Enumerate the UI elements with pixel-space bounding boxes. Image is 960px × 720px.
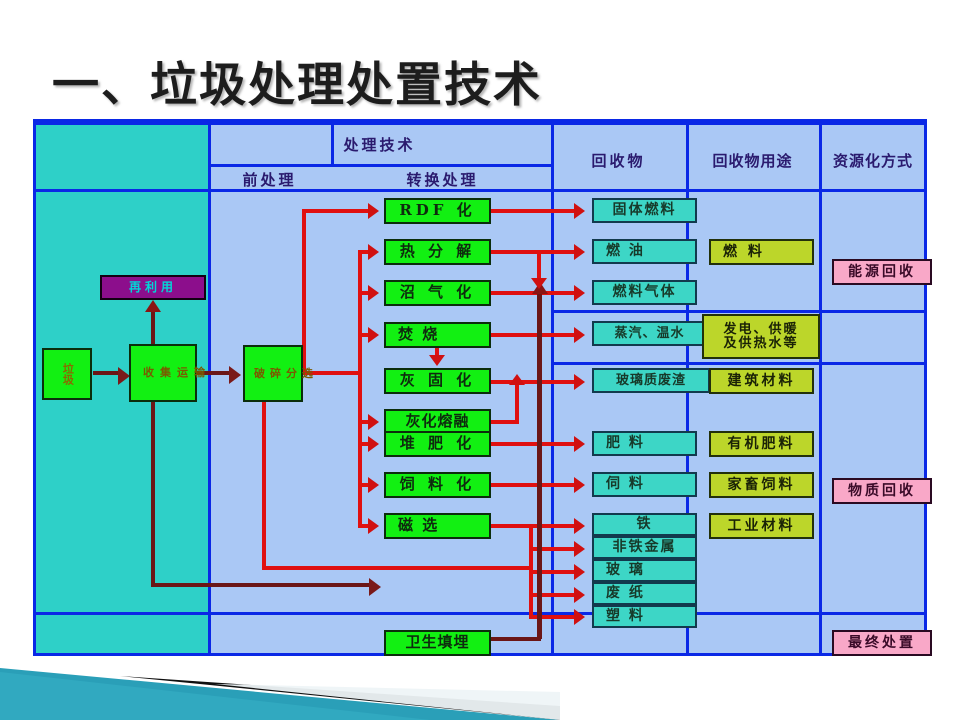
out-rdf — [491, 209, 579, 213]
arrow-ash-solidify-out — [574, 374, 585, 390]
arrow-collect-to-landfill — [369, 578, 381, 596]
node-recovered-iron[interactable]: 铁 — [592, 513, 697, 536]
node-collect-transport[interactable]: 收集运输 — [129, 344, 197, 402]
node-conversion-magnetic[interactable]: 磁 选 — [384, 513, 491, 539]
node-conversion-feed[interactable]: 饲 料 化 — [384, 472, 491, 498]
node-mode-material-recovery[interactable]: 物质回收 — [832, 478, 932, 504]
node-recovered-solid-fuel[interactable]: 固体燃料 — [592, 198, 697, 223]
process-flow-diagram: 处理技术 前处理 转换处理 回收物 回收物用途 资源化方式 再利用 垃圾 收集运… — [33, 119, 927, 656]
riser-ashmelt-vertical — [515, 384, 519, 424]
gas-riser-vertical — [537, 294, 542, 639]
node-crush-sort-label: 破碎分选 — [254, 367, 292, 381]
node-recovered-plastic[interactable]: 塑 料 — [592, 605, 697, 628]
header-treatment-tech: 处理技术 — [208, 134, 551, 155]
node-recovered-fuel-oil[interactable]: 燃 油 — [592, 239, 697, 264]
arrow-to-biogas — [368, 285, 379, 301]
node-conversion-biogas[interactable]: 沼 气 化 — [384, 280, 491, 306]
node-recovered-waste-paper[interactable]: 废 纸 — [592, 582, 697, 605]
arrow-to-rdf — [368, 203, 379, 219]
node-recovered-nonferrous[interactable]: 非铁金属 — [592, 536, 697, 559]
out-ash-solidify — [491, 380, 579, 384]
bus-crush-bottom-to-glass — [262, 566, 532, 570]
arrow-incineration-to-ash — [429, 355, 445, 366]
node-recovered-fuel-gas[interactable]: 燃料气体 — [592, 280, 697, 305]
arrow-pyrolysis-out — [574, 244, 585, 260]
connector-collect-to-landfill-h — [151, 583, 373, 587]
arrow-paper-out — [574, 587, 585, 603]
arrow-gas-downfeed — [531, 278, 547, 289]
divider-intake — [208, 122, 211, 653]
final-disposal-rule — [36, 612, 924, 615]
arrow-plastic-out — [574, 609, 585, 625]
node-conversion-pyrolysis[interactable]: 热 分 解 — [384, 239, 491, 265]
arrow-compost-out — [574, 436, 585, 452]
node-conversion-rdf[interactable]: RDF 化 — [384, 198, 491, 224]
arrow-biogas-out — [574, 285, 585, 301]
arrow-feed-out — [574, 477, 585, 493]
connector-collect-up-to-reuse — [151, 312, 155, 346]
bus-crush-bottom-vertical — [262, 402, 266, 570]
node-use-fuel[interactable]: 燃 料 — [709, 239, 814, 265]
band-rule-energy-steam — [551, 310, 927, 313]
node-use-building-material[interactable]: 建筑材料 — [709, 368, 814, 394]
page-title: 一、垃圾处理处置技术 — [52, 46, 542, 115]
bus-crush-to-rdf — [302, 209, 372, 213]
out-feed — [491, 483, 579, 487]
arrow-to-pyrolysis — [368, 244, 379, 260]
node-recovered-glass-slag[interactable]: 玻璃质废渣 — [592, 368, 710, 393]
arrow-collect-to-crush — [229, 366, 241, 384]
arrow-nonferrous-out — [574, 541, 585, 557]
arrow-collect-to-reuse — [145, 300, 161, 312]
out-compost — [491, 442, 579, 446]
connector-waste-to-collect — [93, 371, 121, 375]
connector-collect-down-trunk — [151, 402, 155, 585]
arrow-glass-out — [574, 564, 585, 580]
node-mode-energy-recovery[interactable]: 能源回收 — [832, 259, 932, 285]
node-use-livestock-feed[interactable]: 家畜饲料 — [709, 472, 814, 498]
arrow-to-magnetic — [368, 518, 379, 534]
header-rule-mid — [208, 164, 551, 167]
out-incineration — [491, 333, 579, 337]
node-waste-label: 垃圾 — [61, 363, 74, 385]
node-reuse[interactable]: 再利用 — [100, 275, 206, 300]
arrow-to-compost — [368, 436, 379, 452]
arrow-ashmelt-riser — [509, 374, 525, 385]
gas-riser-to-landfill — [491, 637, 541, 641]
node-conversion-compost[interactable]: 堆 肥 化 — [384, 431, 491, 457]
header-conversion-treatment: 转换处理 — [334, 169, 551, 190]
header-resource-mode: 资源化方式 — [819, 150, 927, 171]
node-conversion-incineration[interactable]: 焚 烧 — [384, 322, 491, 348]
divider-modes — [819, 122, 822, 653]
out-magnetic-stub — [491, 524, 533, 528]
arrow-rdf-out — [574, 203, 585, 219]
node-collect-transport-label: 收集运输 — [143, 366, 183, 380]
arrow-to-feed — [368, 477, 379, 493]
node-use-power-heat-line2: 及供热水等 — [723, 337, 798, 351]
node-recovered-fertilizer[interactable]: 肥 料 — [592, 431, 697, 456]
header-rule-top — [36, 122, 924, 125]
arrow-incineration-out — [574, 327, 585, 343]
node-landfill[interactable]: 卫生填埋 — [384, 630, 491, 656]
node-recovered-steam-hotwater[interactable]: 蒸汽、温水 — [592, 321, 707, 346]
header-pre-treatment: 前处理 — [208, 169, 331, 190]
node-use-power-heat-line1: 发电、供暖 — [723, 323, 798, 337]
node-waste[interactable]: 垃圾 — [42, 348, 92, 400]
arrow-iron-out — [574, 518, 585, 534]
node-crush-sort[interactable]: 破碎分选 — [243, 345, 303, 402]
header-recovered-uses: 回收物用途 — [686, 150, 819, 171]
node-recovered-feed[interactable]: 伺 料 — [592, 472, 697, 497]
node-use-power-heat[interactable]: 发电、供暖 及供热水等 — [702, 314, 820, 359]
out-pyrolysis — [491, 250, 579, 254]
node-recovered-glass[interactable]: 玻 璃 — [592, 559, 697, 582]
arrow-to-ashmelt — [368, 414, 379, 430]
node-use-organic-fertilizer[interactable]: 有机肥料 — [709, 431, 814, 457]
arrow-to-incineration — [368, 327, 379, 343]
band-rule-steam-material — [551, 362, 927, 365]
header-recovered-materials: 回收物 — [551, 150, 686, 171]
node-mode-final-disposal[interactable]: 最终处置 — [832, 630, 932, 656]
node-use-industrial-material[interactable]: 工业材料 — [709, 513, 814, 539]
node-conversion-ash-solidify[interactable]: 灰 固 化 — [384, 368, 491, 394]
